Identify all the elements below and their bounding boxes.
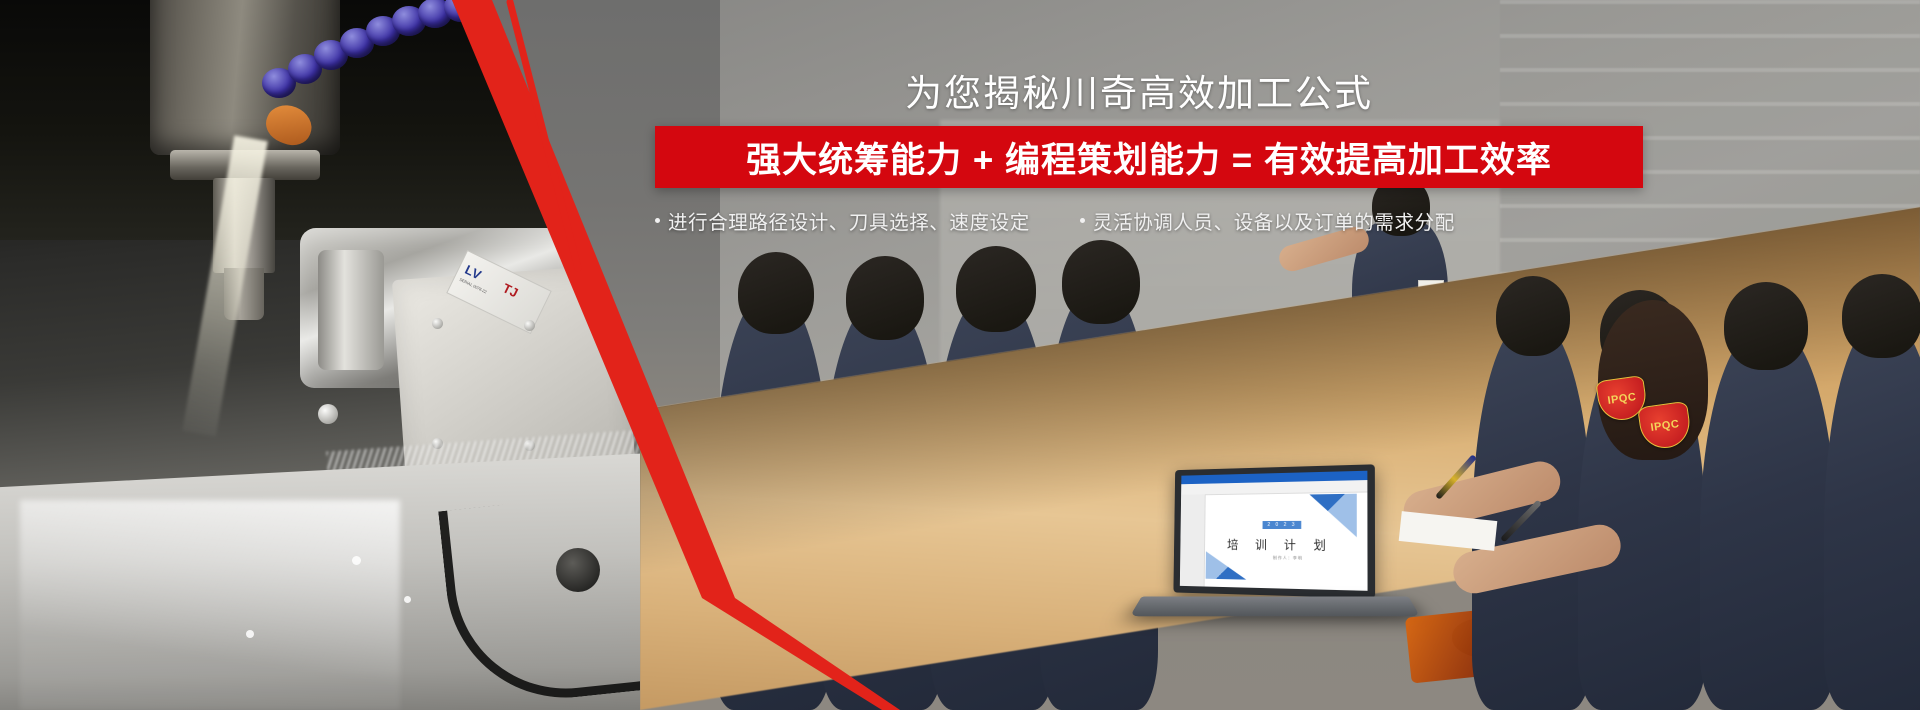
- coolant-splash: [20, 500, 400, 710]
- formula-text: 强大统筹能力 + 编程策划能力 = 有效提高加工效率: [746, 132, 1552, 183]
- attendee-7-head: [1724, 282, 1808, 370]
- laptop-lid: 2 0 2 3 培 训 计 划 制作人：李明: [1173, 464, 1375, 598]
- coolant-drop-1: [352, 556, 361, 565]
- attendee-8-head: [1842, 274, 1920, 358]
- fixture-bolt-2: [524, 320, 535, 331]
- attendee-7-body: [1700, 326, 1836, 710]
- ppt-subtitle-text: 制作人：李明: [1273, 555, 1303, 561]
- coolant-drop-2: [404, 596, 411, 603]
- bullet-item-1: 进行合理路径设计、刀具选择、速度设定: [655, 206, 1030, 235]
- attendee-4-head: [1062, 240, 1140, 324]
- bullet-list: 进行合理路径设计、刀具选择、速度设定 灵活协调人员、设备以及订单的需求分配: [655, 198, 1643, 242]
- ppt-title-text: 培 训 计 划: [1227, 536, 1333, 554]
- attendee-5-head: [1496, 276, 1570, 356]
- laptop-keyboard-base: [1130, 597, 1420, 617]
- hero-banner: 2 0 2 3 培 训 计 划 制作人：李明 IPQC IPQC: [0, 0, 1920, 710]
- attendee-2-head: [846, 256, 924, 340]
- ppt-slide-panel: [1180, 494, 1206, 586]
- coolant-drop-3: [246, 630, 254, 638]
- chuck-jaw: [318, 250, 384, 370]
- bullet-item-2: 灵活协调人员、设备以及订单的需求分配: [1080, 206, 1455, 235]
- bullet-dot-icon: [1080, 218, 1085, 223]
- attendee-3-head: [956, 246, 1036, 332]
- formula-red-bar: 强大统筹能力 + 编程策划能力 = 有效提高加工效率: [655, 126, 1643, 188]
- ppt-year-badge: 2 0 2 3: [1263, 520, 1302, 528]
- bullet-1-text: 进行合理路径设计、刀具选择、速度设定: [668, 206, 1030, 235]
- bullet-dot-icon: [655, 218, 660, 223]
- tool-label-suffix-text: TJ: [500, 280, 520, 300]
- ppt-slide: 2 0 2 3 培 训 计 划 制作人：李明: [1206, 494, 1357, 582]
- bullet-2-text: 灵活协调人员、设备以及订单的需求分配: [1093, 206, 1455, 235]
- banner-headline: 为您揭秘川奇高效加工公式: [905, 63, 1373, 117]
- fixture-bolt-1: [432, 318, 443, 329]
- bed-knob: [556, 548, 600, 592]
- fixture-bolt-5: [318, 404, 338, 424]
- laptop-screen: 2 0 2 3 培 训 计 划 制作人：李明: [1180, 471, 1368, 591]
- attendee-1-head: [738, 252, 814, 334]
- ppt-decor-top-right: [1295, 494, 1357, 538]
- attendee-5-body: [1472, 320, 1592, 710]
